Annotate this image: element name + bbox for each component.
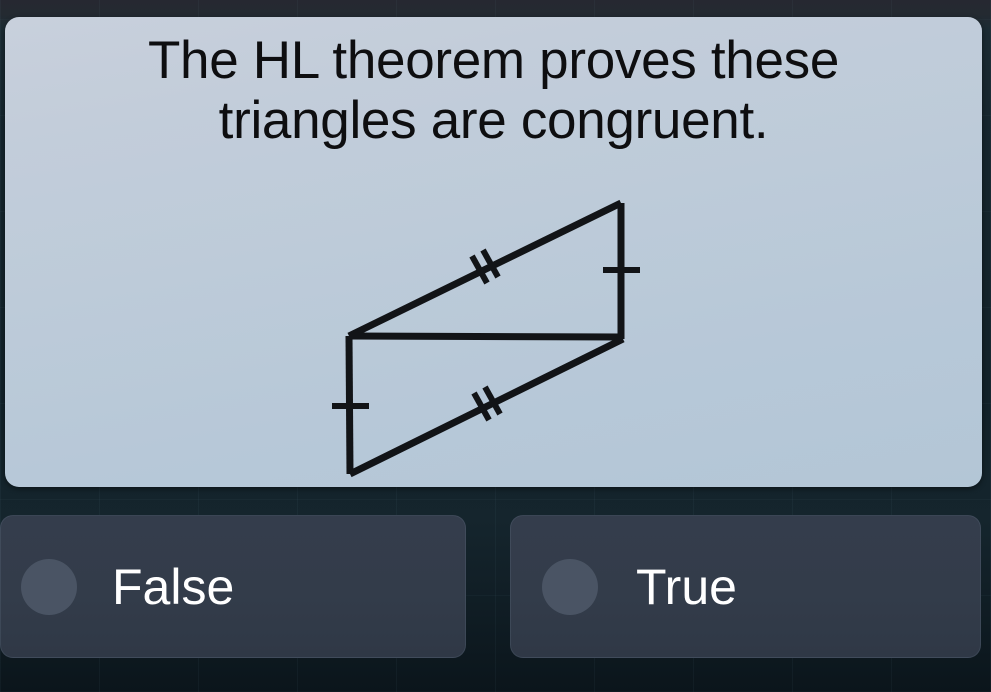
answer-option-false-label: False <box>112 562 234 612</box>
question-card: The HL theorem proves these triangles ar… <box>5 17 982 487</box>
shared-horizontal-segment <box>349 336 623 337</box>
answer-option-false[interactable]: False <box>0 515 466 658</box>
answer-options: False True <box>0 515 991 660</box>
answer-option-true-label: True <box>636 562 737 612</box>
upper-hypotenuse <box>349 203 621 336</box>
lower-hypotenuse <box>350 339 623 474</box>
quiz-screen: The HL theorem proves these triangles ar… <box>0 0 991 692</box>
answer-option-true[interactable]: True <box>510 515 981 658</box>
radio-icon[interactable] <box>21 559 77 615</box>
radio-icon[interactable] <box>542 559 598 615</box>
two-triangles-diagram <box>5 17 982 487</box>
geometry-figure <box>5 17 982 487</box>
